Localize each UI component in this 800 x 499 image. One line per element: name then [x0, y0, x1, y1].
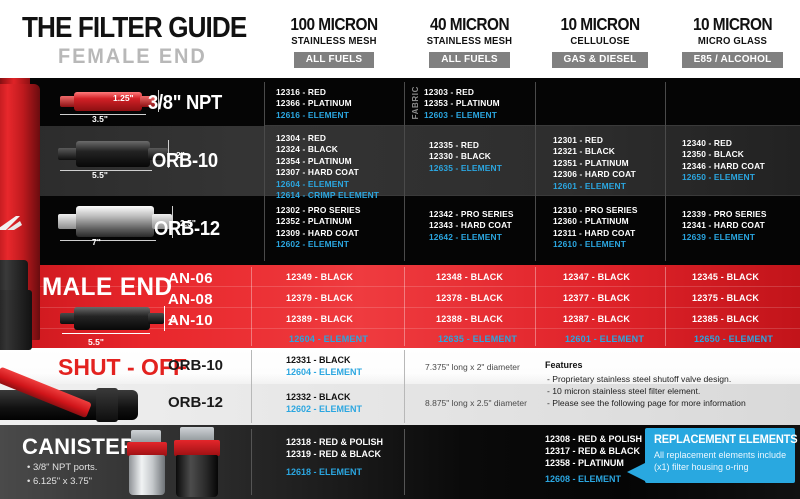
- code-item: 12310 - PRO SERIES: [553, 205, 638, 216]
- column-divider: [665, 267, 666, 346]
- code-list-r1c0: 12304 - RED 12324 - BLACK 12354 - PLATIN…: [276, 133, 379, 201]
- code-item: 12304 - RED: [276, 133, 379, 144]
- canister-bullet-0: • 3/8" NPT ports.: [27, 462, 97, 473]
- aeromotive-logo-icon: [0, 212, 24, 234]
- code-item: 12351 - PLATINUM: [553, 158, 636, 169]
- canister-image-black: [170, 427, 238, 497]
- code-item: 12301 - RED: [553, 135, 636, 146]
- filter-guide-sheet: THE FILTER GUIDE FEMALE END 100 MICRON S…: [0, 0, 800, 499]
- column-material: MICRO GLASS: [668, 36, 796, 47]
- code-item: 12352 - PLATINUM: [276, 216, 361, 227]
- shutoff-dimension-0: 7.375" long x 2" diameter: [425, 362, 520, 372]
- code-item: 12341 - HARD COAT: [682, 220, 767, 231]
- product-type-label-npt: 3/8" NPT: [148, 92, 222, 115]
- column-fuel-badge: E85 / ALCOHOL: [682, 52, 784, 68]
- column-divider: [251, 429, 252, 495]
- male-code-r2c3: 12385 - BLACK: [692, 314, 759, 324]
- code-item: 12308 - RED & POLISH: [545, 433, 642, 445]
- shutoff-code-1: 12332 - BLACK: [286, 392, 351, 402]
- column-divider: [251, 350, 252, 423]
- column-micron: 10 MICRON: [673, 14, 792, 35]
- an-fitting-image: [0, 260, 40, 355]
- code-item: 12321 - BLACK: [553, 146, 636, 157]
- section-label-male-end: MALE END: [42, 273, 173, 302]
- an-size-label-0: AN-06: [168, 270, 213, 287]
- code-item-element: 12603 - ELEMENT: [424, 110, 500, 121]
- male-element-c1: 12635 - ELEMENT: [438, 334, 517, 344]
- code-list-r0c0: 12316 - RED 12366 - PLATINUM 12616 - ELE…: [276, 87, 352, 121]
- column-divider: [535, 82, 536, 261]
- code-item-element: 12618 - ELEMENT: [286, 466, 383, 478]
- male-code-r1c1: 12378 - BLACK: [436, 293, 503, 303]
- column-micron: 10 MICRON: [543, 14, 657, 35]
- code-item: 12309 - HARD COAT: [276, 228, 361, 239]
- male-end-table: MALE END 5.5" 2" AN-06 AN-08 AN-10 12349…: [0, 265, 800, 348]
- female-end-table: 3.5" 1.25" 3/8" NPT 12316 - RED 12366 - …: [0, 78, 800, 265]
- male-code-r0c2: 12347 - BLACK: [563, 272, 630, 282]
- column-fuel-badge: ALL FUELS: [429, 52, 510, 68]
- column-header-2: 10 MICRON CELLULOSE GAS & DIESEL: [535, 14, 665, 68]
- code-item: 12317 - RED & BLACK: [545, 445, 642, 457]
- dimension-length-male: 5.5": [88, 337, 104, 347]
- column-divider: [404, 350, 405, 423]
- code-item: 12353 - PLATINUM: [424, 98, 500, 109]
- column-fuel-badge: GAS & DIESEL: [552, 52, 649, 68]
- column-header-3: 10 MICRON MICRO GLASS E85 / ALCOHOL: [665, 14, 800, 68]
- features-heading: Features: [545, 360, 583, 370]
- code-list-r2c1: 12342 - PRO SERIES 12343 - HARD COAT 126…: [429, 209, 514, 243]
- code-item: 12303 - RED: [424, 87, 500, 98]
- code-item: 12342 - PRO SERIES: [429, 209, 514, 220]
- code-item: 12318 - RED & POLISH: [286, 436, 383, 448]
- code-item-element: 12601 - ELEMENT: [553, 181, 636, 192]
- male-element-c0: 12604 - ELEMENT: [289, 334, 368, 344]
- code-item: 12350 - BLACK: [682, 149, 765, 160]
- code-item: 12330 - BLACK: [429, 151, 502, 162]
- shutoff-orb-label-0: ORB-10: [168, 357, 223, 374]
- code-item: 12366 - PLATINUM: [276, 98, 352, 109]
- column-divider: [665, 82, 666, 261]
- code-item-element: 12610 - ELEMENT: [553, 239, 638, 250]
- column-divider: [404, 267, 405, 346]
- code-item: 12307 - HARD COAT: [276, 167, 379, 178]
- an-fitting-body: [0, 290, 32, 350]
- an-size-label-1: AN-08: [168, 291, 213, 308]
- code-item: 12343 - HARD COAT: [429, 220, 514, 231]
- code-item-element: 12650 - ELEMENT: [682, 172, 765, 183]
- male-code-r2c1: 12388 - BLACK: [436, 314, 503, 324]
- code-item: 12346 - HARD COAT: [682, 161, 765, 172]
- column-micron: 40 MICRON: [412, 14, 527, 35]
- code-item: 12311 - HARD COAT: [553, 228, 638, 239]
- code-item-element: 12642 - ELEMENT: [429, 232, 514, 243]
- shutoff-dimension-1: 8.875" long x 2.5" diameter: [425, 398, 527, 408]
- column-header-1: 40 MICRON STAINLESS MESH ALL FUELS: [404, 14, 535, 68]
- code-list-r1c3: 12340 - RED 12350 - BLACK 12346 - HARD C…: [682, 138, 765, 184]
- code-item: 12324 - BLACK: [276, 144, 379, 155]
- replacement-elements-callout: REPLACEMENT ELEMENTS All replacement ele…: [645, 428, 795, 483]
- filter-product-image-male: [60, 303, 180, 337]
- code-item-element: 12635 - ELEMENT: [429, 163, 502, 174]
- canister-code-list-col1: 12318 - RED & POLISH 12319 - RED & BLACK…: [286, 436, 383, 478]
- valve-cap: [96, 388, 118, 422]
- code-list-r2c2: 12310 - PRO SERIES 12360 - PLATINUM 1231…: [553, 205, 638, 251]
- code-list-r2c0: 12302 - PRO SERIES 12352 - PLATINUM 1230…: [276, 205, 361, 251]
- male-code-r1c2: 12377 - BLACK: [563, 293, 630, 303]
- product-type-label-orb12: ORB-12: [154, 218, 220, 241]
- code-item-element: 12614 - CRIMP ELEMENT: [276, 190, 379, 201]
- male-element-c2: 12601 - ELEMENT: [565, 334, 644, 344]
- canister-bullet-1: • 6.125" x 3.75": [27, 476, 92, 487]
- fabric-tag: FABRIC: [411, 86, 420, 119]
- dimension-length-npt: 3.5": [92, 114, 108, 124]
- shutoff-element-1: 12602 - ELEMENT: [286, 404, 362, 414]
- code-item: 12360 - PLATINUM: [553, 216, 638, 227]
- code-item-element: 12602 - ELEMENT: [276, 239, 361, 250]
- section-label-canister: CANISTER: [22, 434, 136, 460]
- male-code-r0c3: 12345 - BLACK: [692, 272, 759, 282]
- code-item: 12306 - HARD COAT: [553, 169, 636, 180]
- header-bar: THE FILTER GUIDE FEMALE END 100 MICRON S…: [0, 0, 800, 78]
- code-item: 12302 - PRO SERIES: [276, 205, 361, 216]
- column-material: STAINLESS MESH: [407, 36, 531, 47]
- shutoff-orb-label-1: ORB-12: [168, 394, 223, 411]
- code-list-r1c1: 12335 - RED 12330 - BLACK 12635 - ELEMEN…: [429, 140, 502, 174]
- male-code-r0c0: 12349 - BLACK: [286, 272, 353, 282]
- male-code-r1c0: 12379 - BLACK: [286, 293, 353, 303]
- dimension-diameter-npt: 1.25": [113, 93, 134, 103]
- code-list-r2c3: 12339 - PRO SERIES 12341 - HARD COAT 126…: [682, 209, 767, 243]
- code-item: 12319 - RED & BLACK: [286, 448, 383, 460]
- feature-item-2: - Please see the following page for more…: [547, 398, 746, 408]
- feature-item-1: - 10 micron stainless steel filter eleme…: [547, 386, 700, 396]
- callout-tail: [627, 462, 647, 482]
- column-fuel-badge: ALL FUELS: [294, 52, 375, 68]
- code-item-element: 12616 - ELEMENT: [276, 110, 352, 121]
- code-list-r1c2: 12301 - RED 12321 - BLACK 12351 - PLATIN…: [553, 135, 636, 192]
- male-element-c3: 12650 - ELEMENT: [694, 334, 773, 344]
- column-divider: [535, 267, 536, 346]
- column-divider: [264, 82, 265, 261]
- an-size-label-2: AN-10: [168, 312, 213, 329]
- shutoff-valve-image: [0, 358, 150, 426]
- column-header-0: 100 MICRON STAINLESS MESH ALL FUELS: [264, 14, 404, 68]
- male-code-r2c0: 12389 - BLACK: [286, 314, 353, 324]
- dimension-length-orb10: 5.5": [92, 170, 108, 180]
- shutoff-element-0: 12604 - ELEMENT: [286, 367, 362, 377]
- column-divider: [404, 429, 405, 495]
- callout-title: REPLACEMENT ELEMENTS: [654, 434, 797, 446]
- product-type-label-orb10: ORB-10: [152, 150, 218, 173]
- shutoff-code-0: 12331 - BLACK: [286, 355, 351, 365]
- male-code-r0c1: 12348 - BLACK: [436, 272, 503, 282]
- code-item-element: 12639 - ELEMENT: [682, 232, 767, 243]
- column-micron: 100 MICRON: [272, 14, 395, 35]
- row-divider: [264, 125, 800, 126]
- male-code-r2c2: 12387 - BLACK: [563, 314, 630, 324]
- column-divider: [404, 82, 405, 261]
- dimension-length-orb12: 7": [92, 237, 101, 247]
- column-divider: [251, 267, 252, 346]
- code-item: 12316 - RED: [276, 87, 352, 98]
- an-fitting-hex: [0, 260, 28, 294]
- code-list-r0c1: 12303 - RED 12353 - PLATINUM 12603 - ELE…: [424, 87, 500, 121]
- code-item: 12354 - PLATINUM: [276, 156, 379, 167]
- column-material: CELLULOSE: [538, 36, 662, 47]
- section-label-female-end: FEMALE END: [58, 45, 207, 69]
- code-item: 12340 - RED: [682, 138, 765, 149]
- male-code-r1c3: 12375 - BLACK: [692, 293, 759, 303]
- feature-item-0: - Proprietary stainless steel shutoff va…: [547, 374, 731, 384]
- callout-body: All replacement elements include (x1) fi…: [654, 450, 796, 473]
- code-item: 12339 - PRO SERIES: [682, 209, 767, 220]
- column-material: STAINLESS MESH: [268, 36, 401, 47]
- page-title: THE FILTER GUIDE: [22, 12, 246, 45]
- code-item: 12335 - RED: [429, 140, 502, 151]
- code-item-element: 12604 - ELEMENT: [276, 179, 379, 190]
